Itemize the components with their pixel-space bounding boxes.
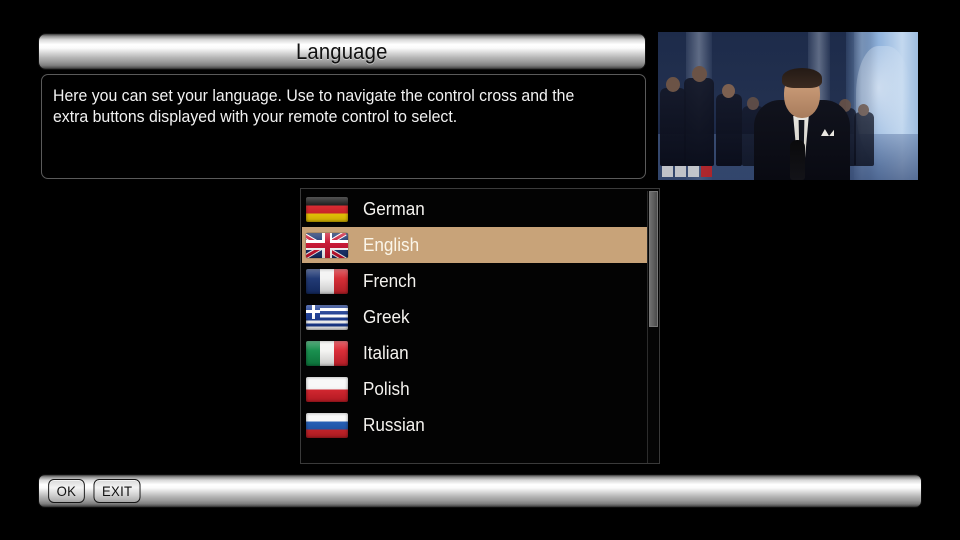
language-list-item-label: German xyxy=(363,199,425,220)
language-list-item[interactable]: French xyxy=(302,263,650,299)
language-list-item[interactable]: German xyxy=(302,191,650,227)
window-title-bar: Language xyxy=(38,33,646,70)
language-list-item[interactable]: English xyxy=(302,227,650,263)
description-panel: Here you can set your language. Use to n… xyxy=(41,74,646,179)
language-list-item[interactable]: Greek xyxy=(302,299,650,335)
preview-crowd-person xyxy=(716,94,742,166)
flag-germany-icon xyxy=(306,197,348,222)
language-list-item-label: French xyxy=(363,271,416,292)
preview-reporter xyxy=(754,68,850,180)
language-list-item[interactable]: Polish xyxy=(302,371,650,407)
language-list-viewport: GermanEnglishFrenchGreekItalianPolishRus… xyxy=(302,191,650,463)
footer-button-bar: OKEXIT xyxy=(38,474,922,508)
list-scrollbar-thumb[interactable] xyxy=(649,191,658,327)
language-list-item-label: Greek xyxy=(363,307,410,328)
language-list-item[interactable]: Italian xyxy=(302,335,650,371)
flag-united-kingdom-icon xyxy=(306,233,348,258)
language-list-item-label: Italian xyxy=(363,343,409,364)
preview-crowd-person xyxy=(660,88,686,166)
flag-russia-icon xyxy=(306,413,348,438)
preview-microphone xyxy=(790,140,805,180)
language-list-item-label: Russian xyxy=(363,415,425,436)
flag-italy-icon xyxy=(306,341,348,366)
exit-button[interactable]: EXIT xyxy=(93,479,140,503)
flag-greece-icon xyxy=(306,305,348,330)
description-text: Here you can set your language. Use to n… xyxy=(53,86,609,128)
tv-settings-screen: Language Here you can set your language.… xyxy=(0,0,960,540)
language-list-panel[interactable]: GermanEnglishFrenchGreekItalianPolishRus… xyxy=(300,188,660,464)
language-list-item-label: Polish xyxy=(363,379,410,400)
language-list-item-label: English xyxy=(363,235,419,256)
preview-reporter-hair xyxy=(782,68,822,88)
ok-button[interactable]: OK xyxy=(48,479,84,503)
flag-poland-icon xyxy=(306,377,348,402)
flag-france-icon xyxy=(306,269,348,294)
live-tv-preview[interactable] xyxy=(657,31,919,181)
list-scrollbar-track[interactable] xyxy=(647,191,658,463)
language-list-item[interactable]: Russian xyxy=(302,407,650,443)
broadcaster-logo-bug xyxy=(662,166,712,177)
page-title: Language xyxy=(296,39,388,65)
preview-crowd-person xyxy=(854,112,874,166)
preview-crowd-person xyxy=(684,78,714,166)
